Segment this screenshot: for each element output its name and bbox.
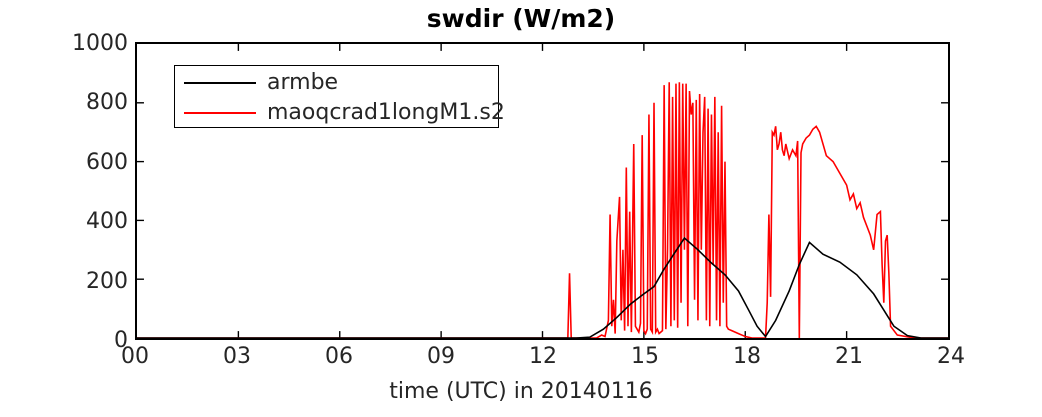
x-tick-09: 09	[416, 344, 466, 369]
legend-swatch-maoqcrad1longM1-s2	[184, 112, 256, 114]
y-tick-200: 200	[0, 269, 128, 294]
legend-item-maoqcrad1longM1-s2: maoqcrad1longM1.s2	[175, 98, 498, 128]
x-axis-tick-labels: 00 03 06 09 12 15 18 21 24	[0, 344, 1042, 378]
x-tick-12: 12	[518, 344, 568, 369]
x-tick-06: 06	[314, 344, 364, 369]
x-tick-03: 03	[212, 344, 262, 369]
y-tick-400: 400	[0, 209, 128, 234]
legend: armbe maoqcrad1longM1.s2	[174, 65, 499, 128]
y-tick-800: 800	[0, 90, 128, 115]
x-axis-title: time (UTC) in 20140116	[0, 379, 1042, 404]
plot-area: armbe maoqcrad1longM1.s2	[135, 42, 950, 340]
x-tick-18: 18	[722, 344, 772, 369]
figure: swdir (W/m2) 1000 800 600 400 200 0 armb…	[0, 0, 1042, 417]
y-tick-1000: 1000	[0, 31, 128, 56]
x-tick-15: 15	[620, 344, 670, 369]
legend-item-armbe: armbe	[175, 68, 498, 98]
legend-label-maoqcrad1longM1-s2: maoqcrad1longM1.s2	[267, 102, 505, 124]
y-tick-600: 600	[0, 150, 128, 175]
legend-swatch-armbe	[184, 82, 256, 84]
x-tick-21: 21	[824, 344, 874, 369]
x-tick-24: 24	[926, 344, 976, 369]
legend-label-armbe: armbe	[267, 72, 338, 94]
series-line-armbe	[137, 238, 948, 338]
x-tick-00: 00	[110, 344, 160, 369]
chart-title: swdir (W/m2)	[0, 4, 1042, 33]
